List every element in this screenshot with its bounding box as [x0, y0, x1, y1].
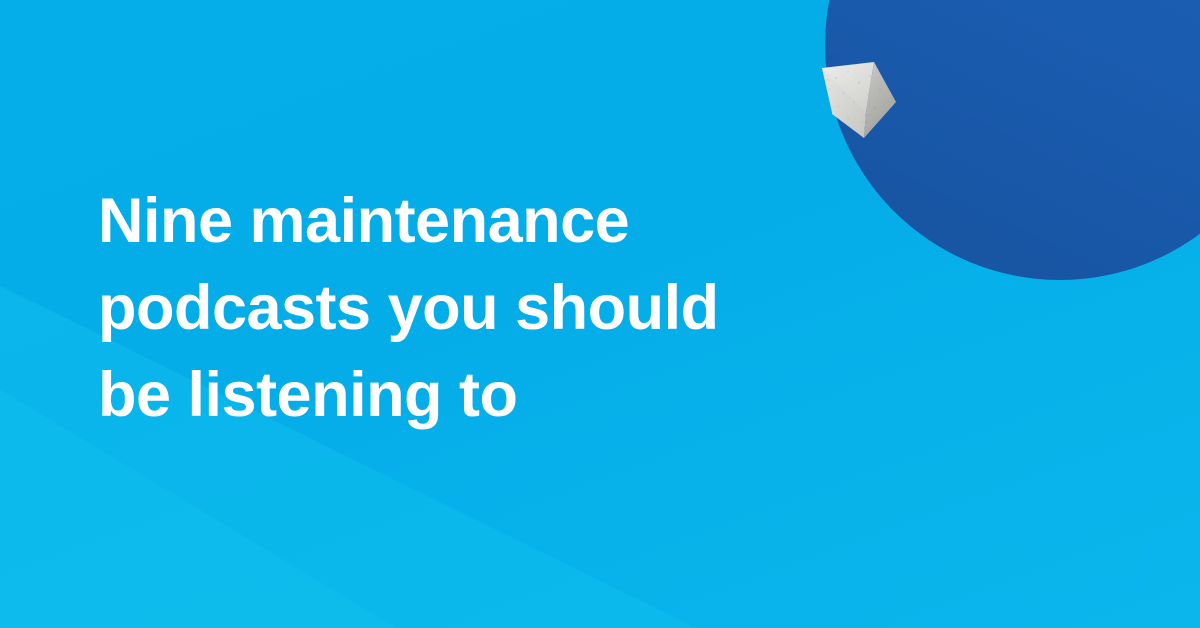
social-share-card: Nine maintenance podcasts you should be … — [0, 0, 1200, 628]
headline: Nine maintenance podcasts you should be … — [98, 178, 898, 439]
grey-gem-icon — [818, 56, 902, 144]
